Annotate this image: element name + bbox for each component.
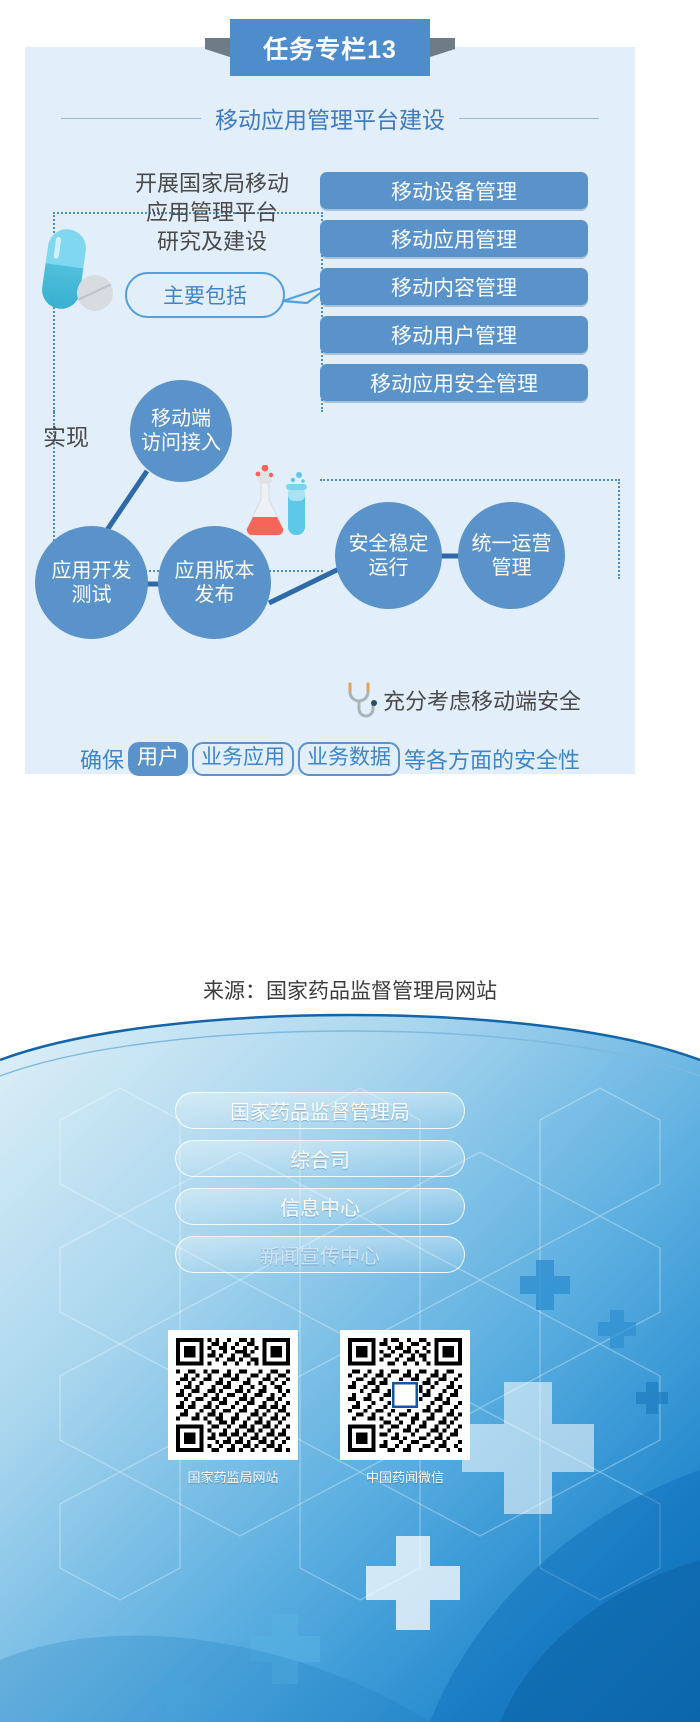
divider-right	[459, 118, 599, 119]
assurance-suffix: 等各方面的安全性	[404, 743, 580, 775]
node-label: 安全稳定运行	[349, 532, 429, 580]
feature-pill[interactable]: 移动内容管理	[320, 268, 588, 305]
node-mobile-access[interactable]: 移动端访问接入	[130, 380, 232, 482]
footer-button-news-center[interactable]: 新闻宣传中心	[175, 1236, 465, 1273]
qr-code-website-image[interactable]	[168, 1330, 298, 1460]
subtitle-row: 移动应用管理平台建设	[25, 100, 635, 136]
qr-block-wechat: 中国药闻微信	[340, 1330, 470, 1486]
footer-button-label: 新闻宣传中心	[260, 1240, 380, 1269]
node-secure-stable-run[interactable]: 安全稳定运行	[335, 502, 442, 609]
security-note: 充分考虑移动端安全	[383, 684, 581, 716]
node-label: 移动端访问接入	[141, 407, 221, 455]
footer-region: 国家药品监督管理局 综合司 信息中心 新闻宣传中心	[0, 1000, 700, 1722]
divider-left	[61, 118, 201, 119]
footer-button-list: 国家药品监督管理局 综合司 信息中心 新闻宣传中心	[175, 1092, 465, 1284]
footer-button-label: 信息中心	[280, 1192, 360, 1221]
qr-block-website: 国家药监局网站	[168, 1330, 298, 1486]
qr-caption: 国家药监局网站	[168, 1467, 298, 1486]
page-title: 移动应用管理平台建设	[215, 101, 445, 135]
qr-code-wechat-image[interactable]	[340, 1330, 470, 1460]
feature-pill[interactable]: 移动设备管理	[320, 172, 588, 209]
feature-pill-label: 移动设备管理	[391, 176, 517, 206]
feature-pill-list: 移动设备管理 移动应用管理 移动内容管理 移动用户管理 移动应用安全管理	[320, 172, 588, 412]
assurance-line: 确保 用户 业务应用 业务数据 等各方面的安全性	[25, 741, 635, 777]
footer-button-general-office[interactable]: 综合司	[175, 1140, 465, 1177]
assurance-prefix: 确保	[80, 743, 124, 775]
footer-button-label: 国家药品监督管理局	[230, 1096, 410, 1125]
headline-text: 开展国家局移动应用管理平台研究及建设	[103, 169, 321, 256]
feature-pill-label: 移动应用管理	[391, 224, 517, 254]
node-label: 应用版本发布	[175, 559, 255, 607]
footer-button-info-center[interactable]: 信息中心	[175, 1188, 465, 1225]
node-label: 统一运营管理	[472, 532, 552, 580]
realize-label: 实现	[43, 418, 89, 452]
footer-button-label: 综合司	[290, 1144, 350, 1173]
feature-pill[interactable]: 移动应用安全管理	[320, 364, 588, 401]
node-unified-operation[interactable]: 统一运营管理	[458, 502, 565, 609]
infographic-card-region: 任务专栏13 移动应用管理平台建设 开展国家局移动应用管理平台研究及建设 主要包…	[0, 0, 700, 960]
banner-wing-left-icon	[205, 38, 233, 58]
feature-pill-label: 移动用户管理	[391, 320, 517, 350]
infographic-card: 任务专栏13 移动应用管理平台建设 开展国家局移动应用管理平台研究及建设 主要包…	[25, 47, 635, 774]
qr-code-row: 国家药监局网站	[168, 1330, 478, 1486]
stethoscope-icon	[345, 681, 381, 723]
footer-button-nmpa[interactable]: 国家药品监督管理局	[175, 1092, 465, 1129]
feature-pill-label: 移动应用安全管理	[370, 368, 538, 398]
assurance-tag-biz-data[interactable]: 业务数据	[298, 742, 400, 775]
node-label: 应用开发测试	[52, 559, 132, 607]
feature-pill-label: 移动内容管理	[391, 272, 517, 302]
qr-matrix-icon	[348, 1338, 462, 1452]
banner: 任务专栏13	[230, 19, 430, 76]
feature-pill[interactable]: 移动用户管理	[320, 316, 588, 353]
flask-test-tube-icon	[242, 465, 314, 541]
callout-label: 主要包括	[163, 280, 247, 310]
banner-wing-right-icon	[427, 38, 455, 58]
node-app-version-release[interactable]: 应用版本发布	[158, 526, 271, 639]
qr-matrix-icon	[176, 1338, 290, 1452]
assurance-tag-user[interactable]: 用户	[128, 742, 188, 775]
feature-pill[interactable]: 移动应用管理	[320, 220, 588, 257]
assurance-tag-biz-app[interactable]: 业务应用	[192, 742, 294, 775]
qr-caption: 中国药闻微信	[340, 1467, 470, 1486]
node-app-dev-test[interactable]: 应用开发测试	[35, 526, 148, 639]
banner-label: 任务专栏13	[263, 30, 397, 66]
callout-bubble: 主要包括	[125, 272, 285, 318]
